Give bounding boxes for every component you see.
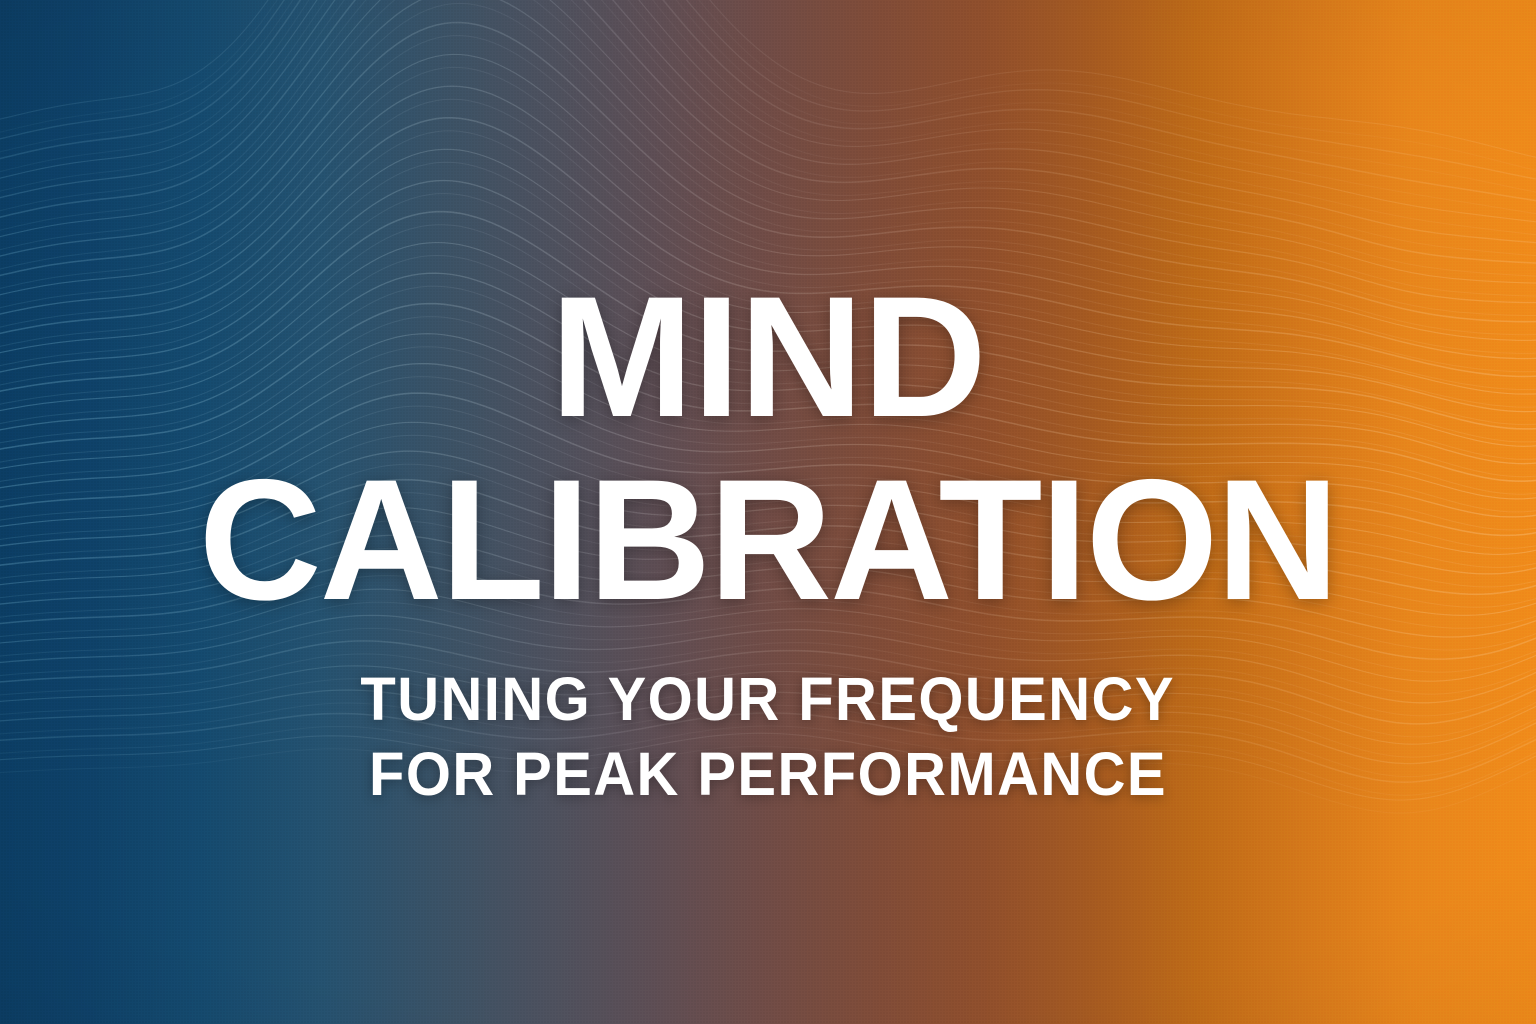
poster-canvas: MIND CALIBRATION TUNING YOUR FREQUENCY F… (0, 0, 1536, 1024)
headline-line-2: CALIBRATION (199, 459, 1338, 622)
subtitle-group: TUNING YOUR FREQUENCY FOR PEAK PERFORMAN… (339, 669, 1196, 805)
subtitle-line-1: TUNING YOUR FREQUENCY (361, 669, 1175, 730)
headline-line-1: MIND (550, 276, 986, 439)
subtitle-line-2: FOR PEAK PERFORMANCE (369, 744, 1167, 805)
poster-text-block: MIND CALIBRATION TUNING YOUR FREQUENCY F… (0, 0, 1536, 1024)
